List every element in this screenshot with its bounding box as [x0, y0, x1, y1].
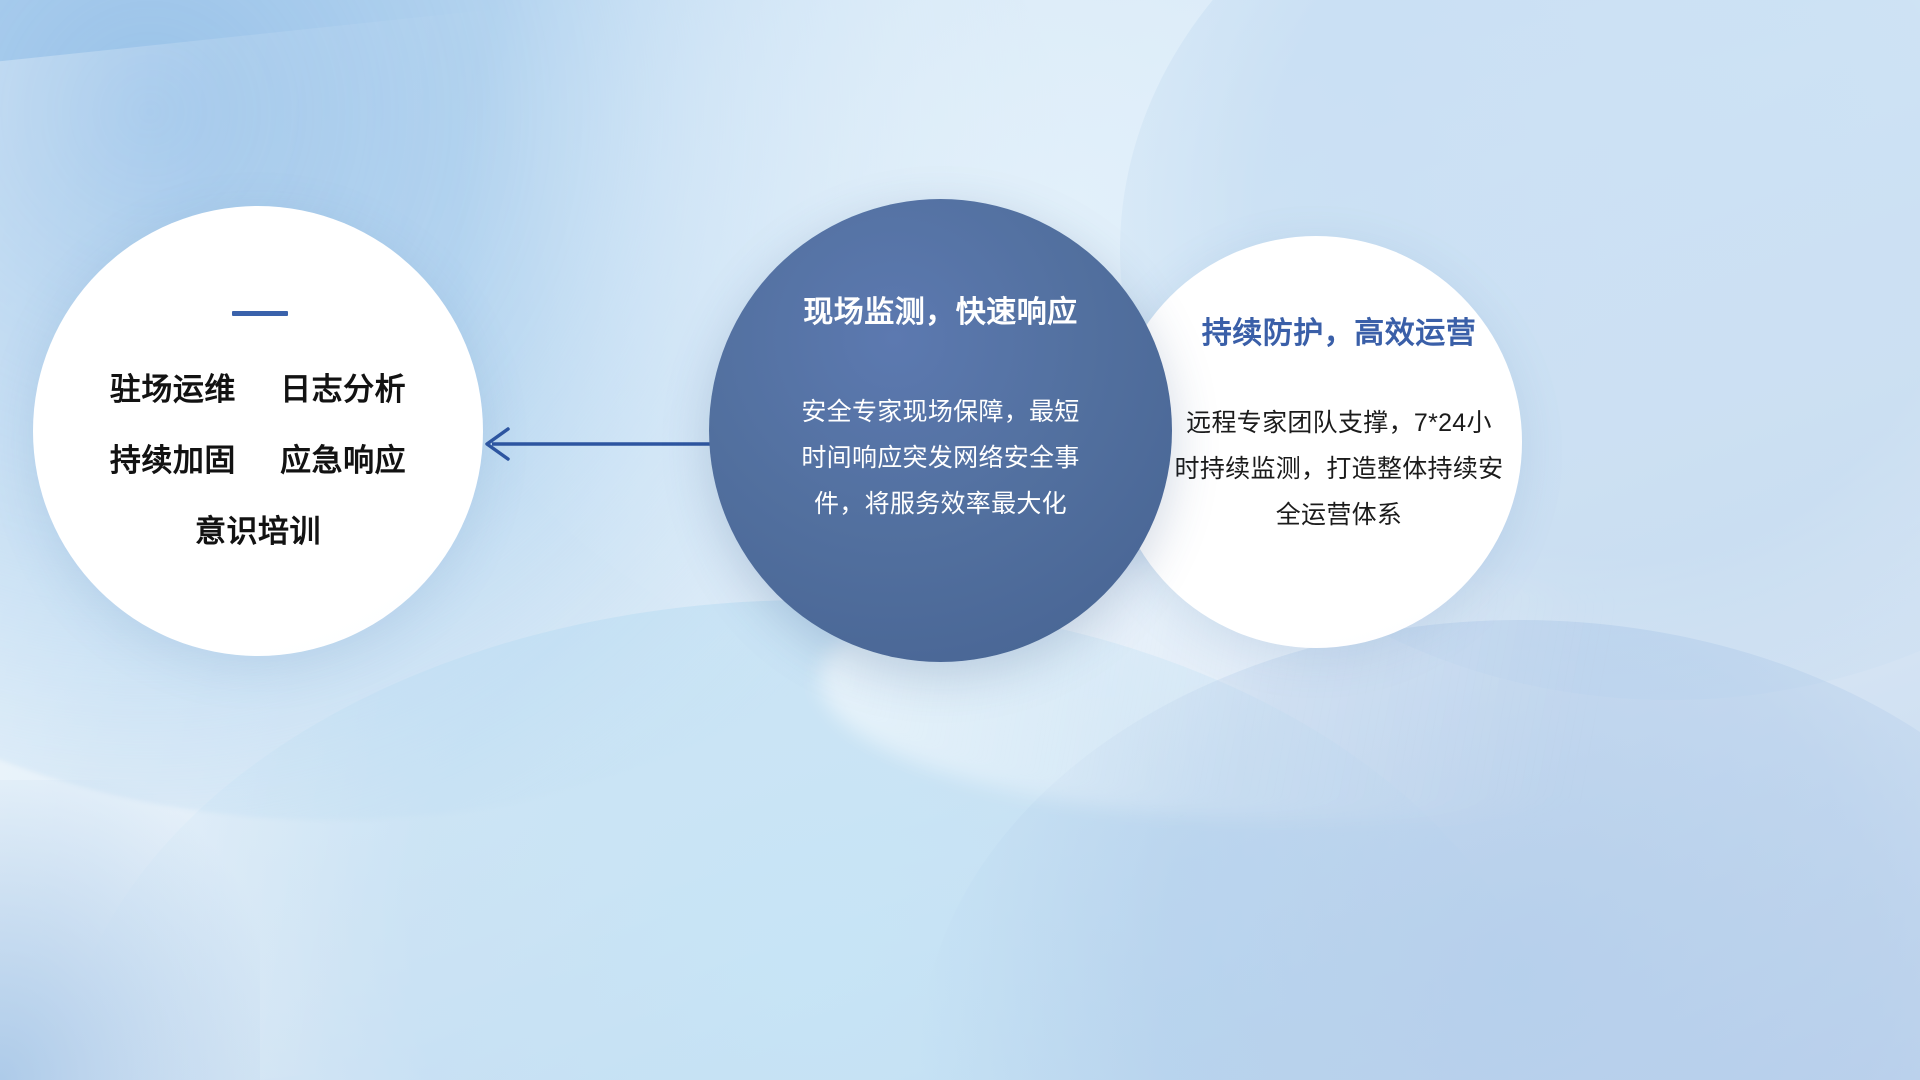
list-item: 驻场运维 日志分析	[110, 364, 406, 409]
right-info-circle: 持续防护，高效运营 远程专家团队支撑，7*24小时持续监测，打造整体持续安全运营…	[1110, 236, 1522, 648]
horizontal-rule-icon	[232, 311, 288, 316]
service-item-label: 驻场运维	[110, 372, 236, 407]
left-service-circle: 驻场运维 日志分析 持续加固 应急响应 意识培训	[33, 206, 483, 656]
service-item-label: 意识培训	[195, 514, 321, 549]
service-item-label: 应急响应	[280, 443, 406, 478]
left-service-list: 驻场运维 日志分析 持续加固 应急响应 意识培训	[110, 364, 406, 551]
right-circle-title: 持续防护，高效运营	[1202, 308, 1477, 352]
list-item: 持续加固 应急响应	[110, 435, 406, 480]
right-circle-body: 远程专家团队支撑，7*24小时持续监测，打造整体持续安全运营体系	[1174, 400, 1504, 538]
background-corner-shade	[0, 780, 260, 1080]
service-item-label: 日志分析	[280, 372, 406, 407]
slide-canvas: 驻场运维 日志分析 持续加固 应急响应 意识培训 持续防护，高效运营 远程专家团…	[0, 0, 1920, 1080]
mid-circle-title: 现场监测，快速响应	[803, 287, 1078, 331]
list-item: 意识培训	[195, 506, 321, 551]
mid-circle-body: 安全专家现场保障，最短时间响应突发网络安全事件，将服务效率最大化	[796, 389, 1086, 527]
service-item-label: 持续加固	[110, 443, 236, 478]
mid-info-circle: 现场监测，快速响应 安全专家现场保障，最短时间响应突发网络安全事件，将服务效率最…	[709, 199, 1172, 662]
